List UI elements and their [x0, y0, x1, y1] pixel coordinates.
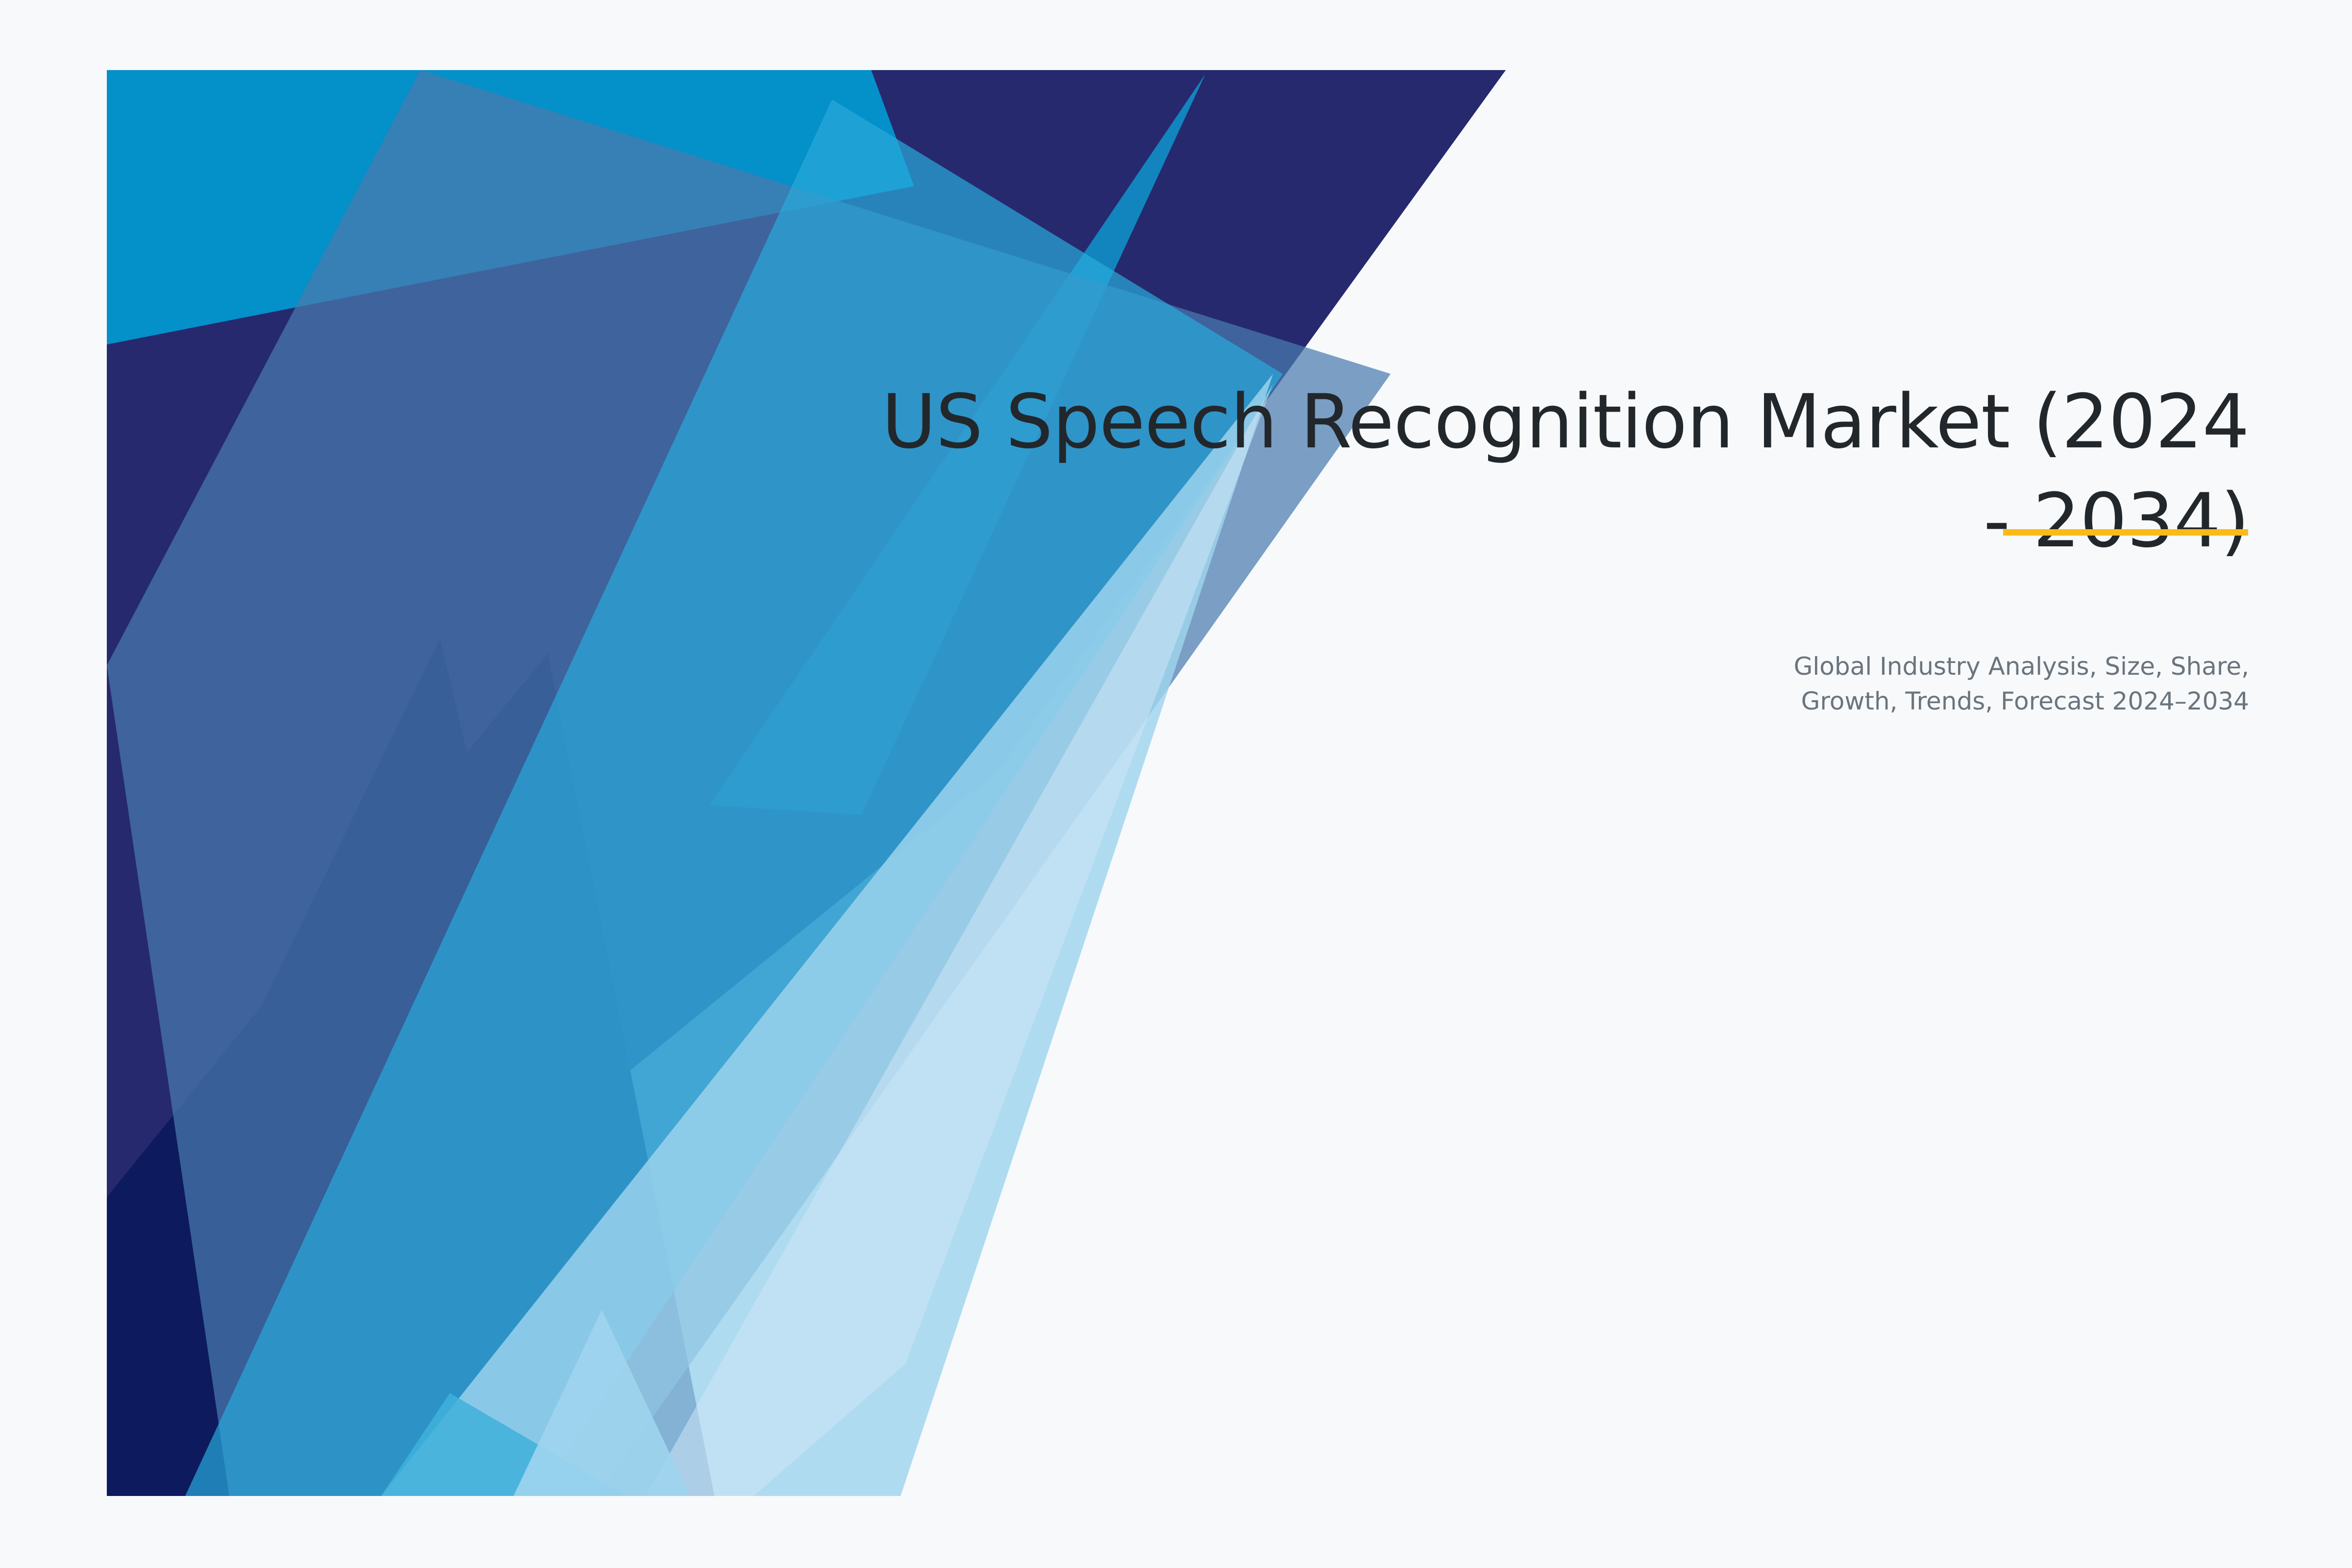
abstract-geometric-artwork [107, 70, 1508, 1496]
cover-page: US Speech Recognition Market (2024 - 203… [0, 0, 2352, 1568]
title-block: US Speech Recognition Market (2024 - 203… [833, 372, 2249, 570]
cover-artwork [107, 70, 1508, 1496]
title-accent-underline [2003, 529, 2248, 536]
page-title: US Speech Recognition Market (2024 - 203… [833, 372, 2249, 570]
page-subtitle: Global Industry Analysis, Size, Share, G… [1323, 649, 2249, 719]
